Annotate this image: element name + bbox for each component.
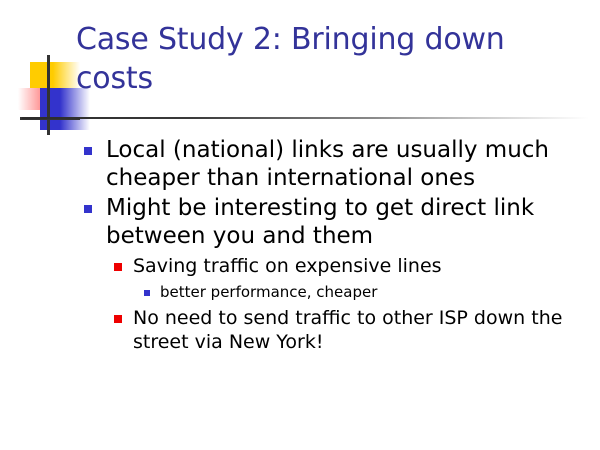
bullet-text: Saving traffic on expensive lines [133,254,583,278]
bullet-text: Might be interesting to get direct link … [106,194,576,250]
logo-yellow-block [30,62,80,91]
title-divider-line [22,117,589,119]
bullet-item-3: Saving traffic on expensive lines [0,254,600,278]
bullet-text: No need to send traffic to other ISP dow… [133,306,583,354]
square-bullet-blue-icon [84,147,92,155]
bullet-item-4: better performance, cheaper [0,282,600,302]
slide-canvas: Case Study 2: Bringing down costs Local … [0,0,600,450]
bullet-item-5: No need to send traffic to other ISP dow… [0,306,600,354]
slide-title: Case Study 2: Bringing down costs [76,20,581,98]
bullet-text: better performance, cheaper [160,282,580,302]
square-bullet-red-icon [114,315,122,323]
square-bullet-blue-icon [84,205,92,213]
square-bullet-red-icon [114,263,122,271]
bullet-text: Local (national) links are usually much … [106,136,576,192]
logo-vertical-rule [47,55,50,135]
slide-body-bullet-list: Local (national) links are usually much … [0,136,600,354]
bullet-item-2: Might be interesting to get direct link … [0,194,600,250]
square-bullet-blue-small-icon [144,290,150,296]
bullet-item-1: Local (national) links are usually much … [0,136,600,192]
